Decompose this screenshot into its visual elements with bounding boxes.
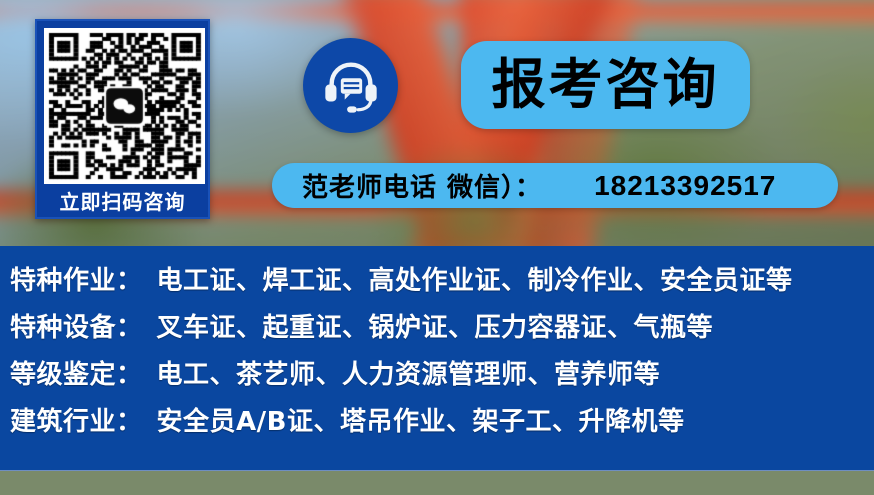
headset-support-icon: [320, 55, 382, 117]
contact-phone-number[interactable]: 18213392517: [594, 170, 776, 202]
qr-card-caption: 立即扫码咨询: [44, 184, 201, 221]
headset-support-badge: [303, 38, 398, 133]
bottom-photo-strip: [0, 470, 874, 495]
info-row-items: 安全员A/B证、塔吊作业、架子工、升降机等: [157, 401, 685, 438]
title-pill: 报考咨询: [461, 41, 750, 129]
info-row-category: 建筑行业：: [10, 401, 143, 438]
hero-banner: 立即扫码咨询 报考咨询: [0, 0, 874, 246]
info-row-items: 电工、茶艺师、人力资源管理师、营养师等: [157, 354, 661, 391]
info-row-special-operations: 特种作业： 电工证、焊工证、高处作业证、制冷作业、安全员证等: [0, 260, 874, 307]
info-row-special-equipment: 特种设备： 叉车证、起重证、锅炉证、压力容器证、气瓶等: [0, 307, 874, 354]
info-row-category: 特种设备：: [10, 307, 143, 344]
certificate-list-panel: 特种作业： 电工证、焊工证、高处作业证、制冷作业、安全员证等 特种设备： 叉车证…: [0, 246, 874, 470]
info-row-items: 叉车证、起重证、锅炉证、压力容器证、气瓶等: [157, 307, 714, 344]
wechat-qr-code-icon: [44, 28, 205, 184]
qr-code-card[interactable]: 立即扫码咨询: [35, 19, 210, 219]
info-row-items: 电工证、焊工证、高处作业证、制冷作业、安全员证等: [157, 260, 793, 297]
info-row-grade-appraisal: 等级鉴定： 电工、茶艺师、人力资源管理师、营养师等: [0, 354, 874, 401]
info-row-construction-industry: 建筑行业： 安全员A/B证、塔吊作业、架子工、升降机等: [0, 401, 874, 448]
page-title: 报考咨询: [492, 58, 720, 112]
info-row-category: 等级鉴定：: [10, 354, 143, 391]
contact-pill[interactable]: 范老师电话 微信）： 18213392517: [272, 163, 838, 208]
info-row-category: 特种作业：: [10, 260, 143, 297]
promo-poster: 立即扫码咨询 报考咨询: [0, 0, 874, 495]
contact-label: 范老师电话 微信）：: [302, 167, 542, 204]
qr-code-image[interactable]: [44, 28, 205, 184]
